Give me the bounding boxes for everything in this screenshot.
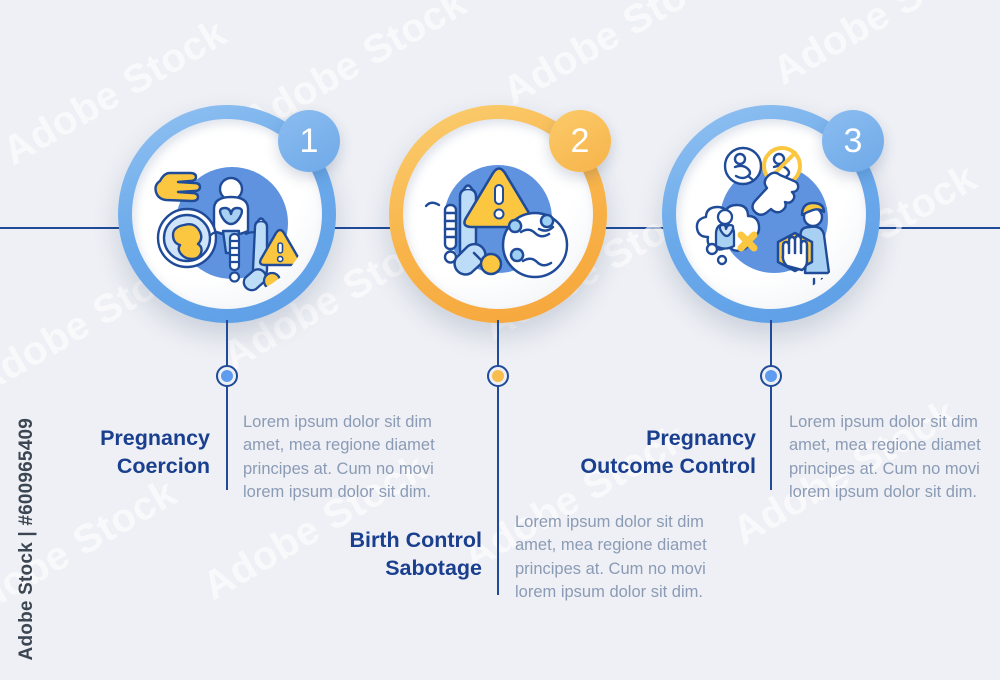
step-1-body: Lorem ipsum dolor sit dim amet, mea regi… [243, 411, 443, 505]
step-2-node-dot [492, 370, 504, 382]
step-3-node[interactable] [760, 365, 782, 387]
step-1-node-dot [221, 370, 233, 382]
step-1-node[interactable] [216, 365, 238, 387]
step-1-title-block: Pregnancy Coercion [60, 425, 210, 480]
infographic-stage: 1 Pregnancy Coercion Lorem ipsum dolor s… [0, 0, 1000, 680]
step-3-badge: 3 [822, 110, 884, 172]
step-2-node[interactable] [487, 365, 509, 387]
step-3-title: Pregnancy Outcome Control [570, 425, 756, 480]
step-3-title-block: Pregnancy Outcome Control [570, 425, 756, 480]
step-2-number: 2 [571, 122, 590, 161]
step-2-body: Lorem ipsum dolor sit dim amet, mea regi… [515, 511, 715, 605]
step-3-node-dot [765, 370, 777, 382]
step-3-stem [770, 320, 772, 490]
step-3-body-block: Lorem ipsum dolor sit dim amet, mea regi… [789, 411, 989, 505]
step-2-title-block: Birth Control Sabotage [320, 527, 482, 582]
step-1-title: Pregnancy Coercion [60, 425, 210, 480]
step-1-body-block: Lorem ipsum dolor sit dim amet, mea regi… [243, 411, 443, 505]
step-3-number: 3 [844, 122, 863, 161]
step-1-stem [226, 320, 228, 490]
step-3-body: Lorem ipsum dolor sit dim amet, mea regi… [789, 411, 989, 505]
step-1-number: 1 [300, 122, 319, 161]
step-2-body-block: Lorem ipsum dolor sit dim amet, mea regi… [515, 511, 715, 605]
step-1-badge: 1 [278, 110, 340, 172]
step-2-title: Birth Control Sabotage [320, 527, 482, 582]
step-2-badge: 2 [549, 110, 611, 172]
stock-credit-label: Adobe Stock | #600965409 [16, 418, 38, 660]
step-2-stem [497, 320, 499, 595]
